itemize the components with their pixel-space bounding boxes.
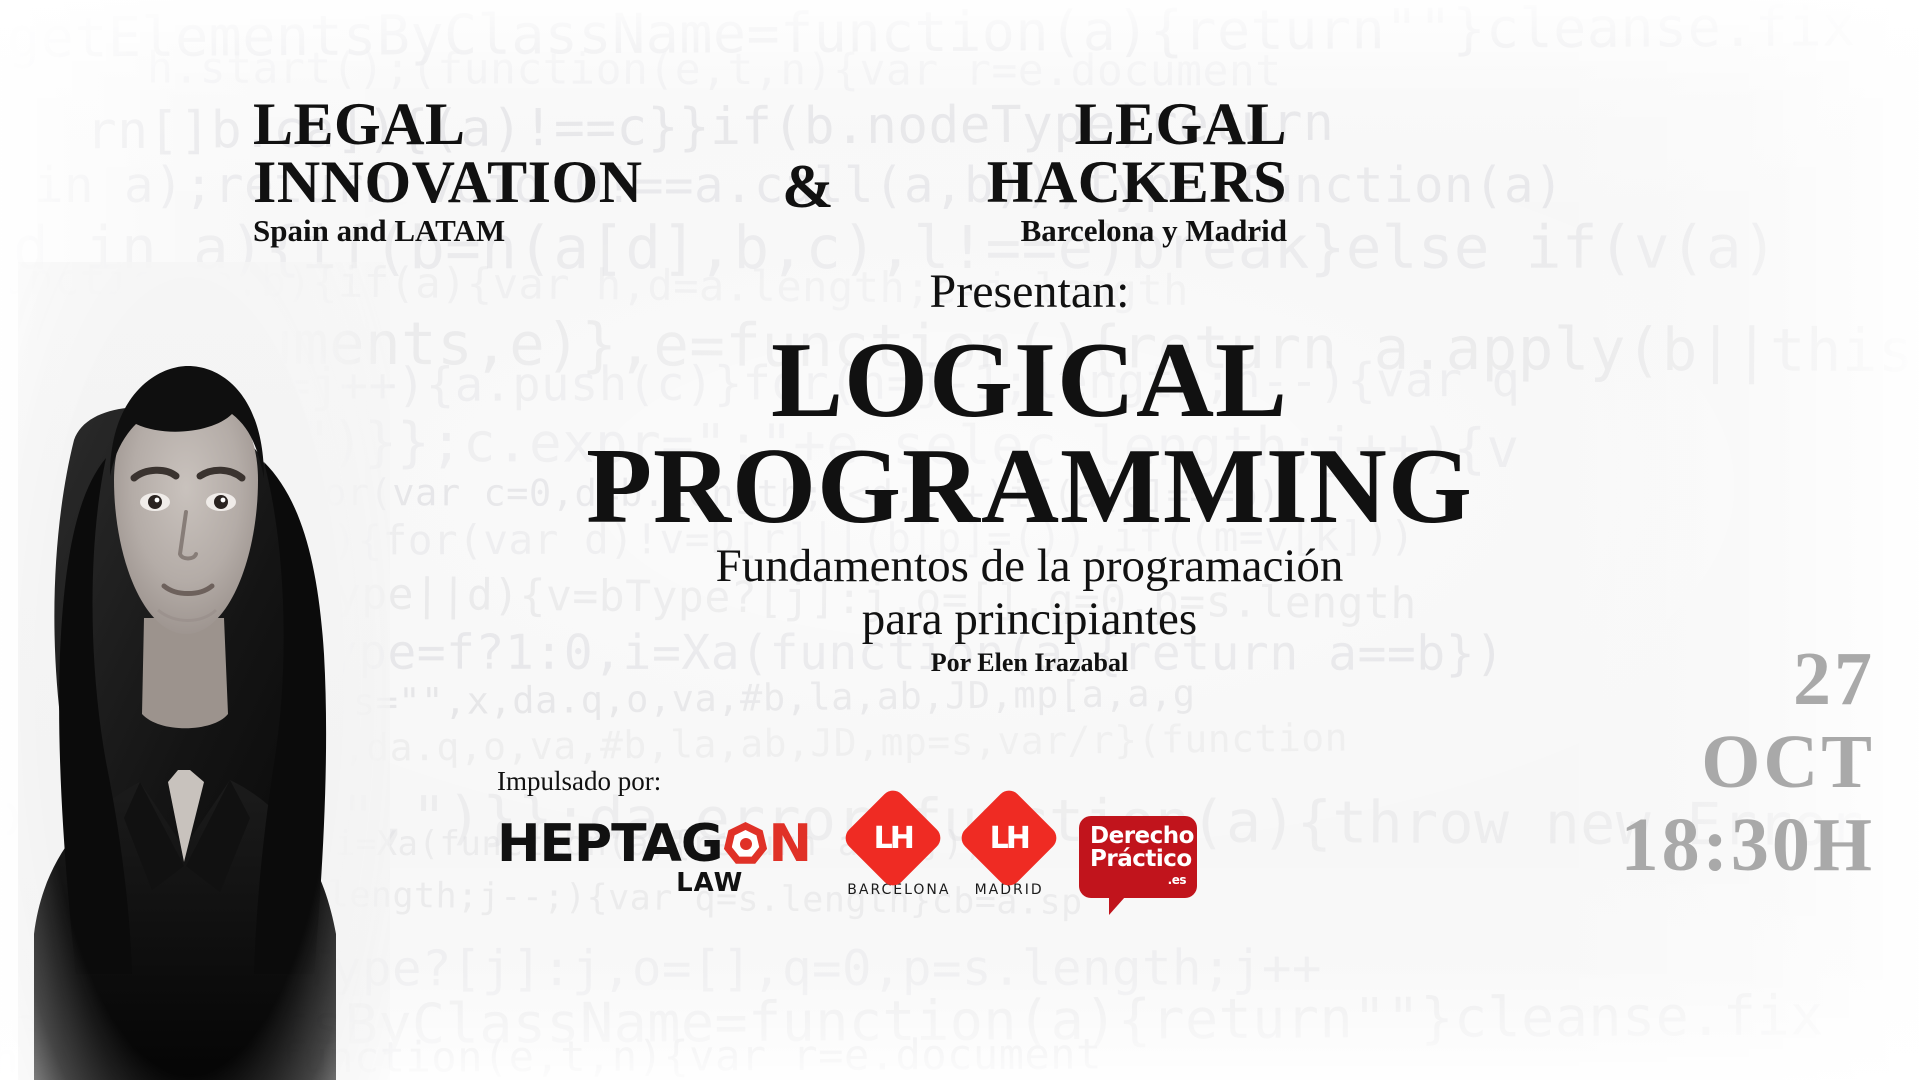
organization-left: LEGAL INNOVATION Spain and LATAM <box>253 96 643 248</box>
org-left-title-line2: INNOVATION <box>253 154 643 212</box>
legal-hackers-mark: LH <box>990 820 1028 855</box>
derecho-practico-tld: .es <box>1090 874 1186 886</box>
legal-hackers-madrid-logo: LH MADRID <box>965 801 1053 898</box>
event-poster: getElementsByClassName=function(a){retur… <box>0 0 1919 1080</box>
event-title-line1: LOGICAL <box>771 321 1288 440</box>
org-right-title-line1: LEGAL <box>987 96 1287 154</box>
sponsor-logo-row: HEPTAG N LAW LH BARCELON <box>497 801 1197 898</box>
event-title: LOGICAL PROGRAMMING <box>140 328 1919 540</box>
legal-hackers-diamond-icon: LH <box>957 786 1062 891</box>
event-date-block: 27 OCT 18:30H <box>1621 638 1875 886</box>
org-left-title-line1: LEGAL <box>253 96 643 154</box>
org-right-region: Barcelona y Madrid <box>987 215 1287 248</box>
heptagon-law-logo: HEPTAG N LAW <box>497 818 821 898</box>
speech-bubble-icon: Derecho Práctico .es <box>1079 816 1197 898</box>
legal-hackers-diamond-icon: LH <box>841 786 946 891</box>
event-tagline-line1: Fundamentos de la programación <box>716 540 1344 592</box>
ampersand-separator: & <box>782 152 834 223</box>
heptagon-wordmark: HEPTAG N <box>497 818 821 870</box>
event-date-time: 18:30H <box>1621 804 1875 887</box>
legal-hackers-barcelona-logo: LH BARCELONA <box>847 801 939 898</box>
heptagon-icon <box>724 822 768 866</box>
event-tagline: Fundamentos de la programación para prin… <box>140 540 1919 645</box>
legal-hackers-mark: LH <box>874 820 912 855</box>
sponsors-label: Impulsado por: <box>497 768 1197 795</box>
event-date-month: OCT <box>1621 721 1875 804</box>
derecho-practico-line2: Práctico <box>1090 846 1192 872</box>
org-left-region: Spain and LATAM <box>253 215 643 248</box>
heptagon-word-part2: N <box>769 818 812 870</box>
event-title-line2: PROGRAMMING <box>140 434 1919 540</box>
org-right-title-line2: HACKERS <box>987 154 1287 212</box>
heptagon-word-part1: HEPTAG <box>497 818 723 870</box>
derecho-practico-logo: Derecho Práctico .es <box>1079 816 1197 898</box>
organization-right: LEGAL HACKERS Barcelona y Madrid <box>987 96 1287 248</box>
presents-label: Presentan: <box>140 268 1919 316</box>
sponsors-section: Impulsado por: HEPTAG N LAW <box>497 768 1197 898</box>
event-date-day: 27 <box>1621 638 1875 721</box>
